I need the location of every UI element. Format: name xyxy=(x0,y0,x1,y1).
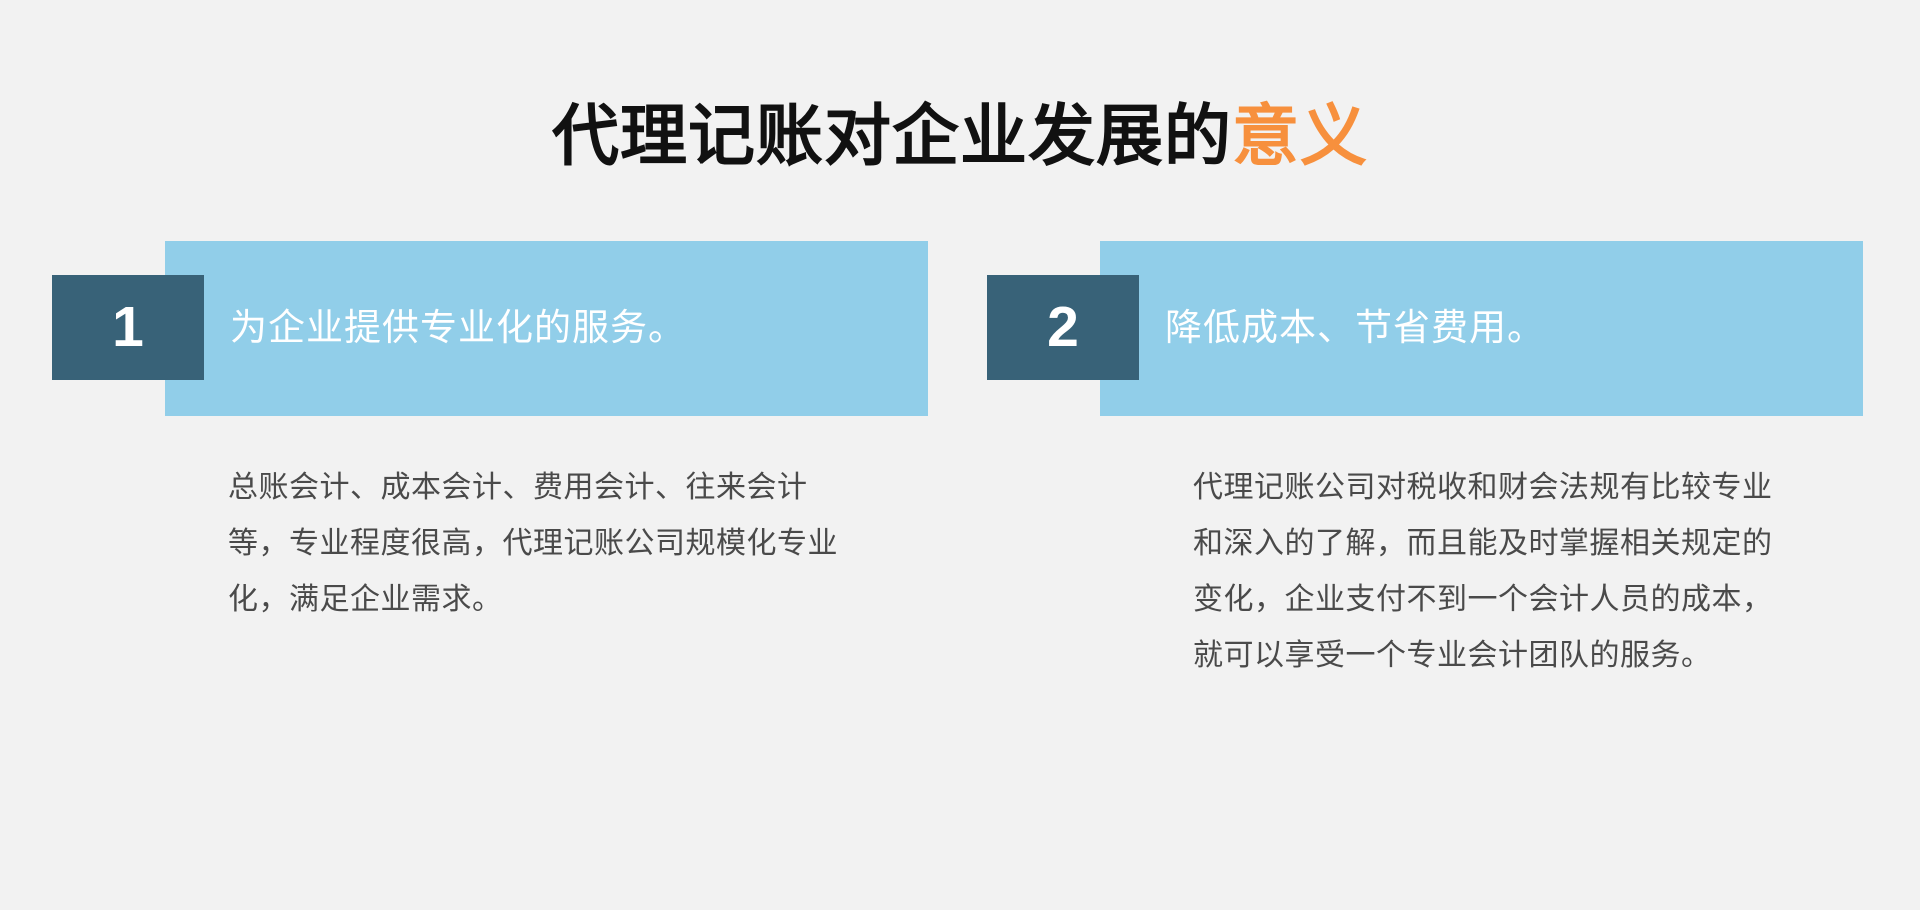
page-title: 代理记账对企业发展的意义 xyxy=(0,97,1920,176)
card-1-body-text: 总账会计、成本会计、费用会计、往来会计等，专业程度很高，代理记账公司规模化专业化… xyxy=(228,460,838,628)
card-2-body-text: 代理记账公司对税收和财会法规有比较专业和深入的了解，而且能及时掌握相关规定的变化… xyxy=(1193,460,1793,684)
page-title-accent: 意义 xyxy=(1232,99,1368,174)
card-1-heading: 为企业提供专业化的服务。 xyxy=(230,275,686,380)
page-title-main: 代理记账对企业发展的 xyxy=(552,99,1232,174)
card-2-heading: 降低成本、节省费用。 xyxy=(1165,275,1545,380)
slide-canvas: 代理记账对企业发展的意义 1 为企业提供专业化的服务。 总账会计、成本会计、费用… xyxy=(0,0,1920,910)
card-1-number-badge: 1 xyxy=(52,275,204,380)
card-2-number-badge: 2 xyxy=(987,275,1139,380)
